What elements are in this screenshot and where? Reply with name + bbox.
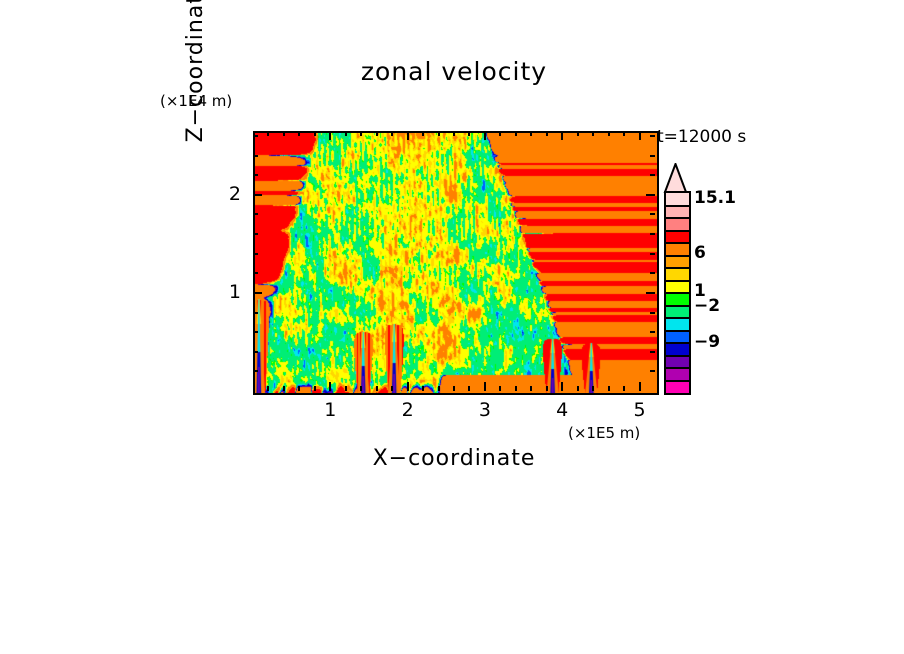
x-tick-minor-top (298, 131, 300, 136)
y-tick-minor (253, 135, 258, 137)
colorbar-separator (666, 255, 689, 257)
y-tick-minor (253, 174, 258, 176)
x-tick-minor-top (376, 131, 378, 136)
y-tick-minor-right (650, 174, 655, 176)
y-tick-minor-right (650, 351, 655, 353)
page-title: zonal velocity (253, 57, 655, 86)
x-tick-minor-top (267, 131, 269, 136)
x-tick-major-top (561, 131, 563, 140)
x-tick-minor-top (546, 131, 548, 136)
colorbar-tick-label: 6 (694, 243, 706, 263)
y-axis-title: Z−coordinate (183, 0, 209, 176)
x-tick-minor-top (438, 131, 440, 136)
x-tick-minor-top (515, 131, 517, 136)
plot-area (253, 131, 659, 395)
x-tick-minor (499, 386, 501, 391)
x-tick-minor-top (577, 131, 579, 136)
x-tick-label: 2 (393, 399, 423, 421)
colorbar-separator (666, 330, 689, 332)
x-tick-minor-top (360, 131, 362, 136)
y-tick-major-right (646, 194, 655, 196)
x-tick-label: 4 (547, 399, 577, 421)
x-tick-major (407, 382, 409, 391)
y-tick-minor (253, 370, 258, 372)
x-tick-minor (608, 386, 610, 391)
y-tick-minor (253, 272, 258, 274)
colorbar-tick-label: −2 (694, 296, 720, 316)
x-tick-label: 5 (625, 399, 655, 421)
y-tick-minor (253, 253, 258, 255)
colorbar-separator (666, 317, 689, 319)
x-tick-label: 1 (315, 399, 345, 421)
x-tick-minor-top (592, 131, 594, 136)
x-tick-minor-top (499, 131, 501, 136)
y-tick-minor (253, 331, 258, 333)
x-tick-minor (577, 386, 579, 391)
x-tick-minor-top (422, 131, 424, 136)
y-tick-label: 2 (211, 183, 241, 205)
x-tick-minor-top (608, 131, 610, 136)
x-tick-minor (592, 386, 594, 391)
x-tick-minor (515, 386, 517, 391)
x-axis-unit-label: (×1E5 m) (568, 424, 640, 442)
x-tick-minor (422, 386, 424, 391)
colorbar-tick-label: 15.1 (694, 188, 736, 208)
colorbar-separator (666, 342, 689, 344)
colorbar-separator (666, 380, 689, 382)
y-tick-major (253, 194, 262, 196)
x-tick-minor (623, 386, 625, 391)
y-tick-minor-right (650, 272, 655, 274)
colorbar (664, 191, 691, 395)
x-tick-major (639, 382, 641, 391)
colorbar-separator (666, 230, 689, 232)
y-tick-label: 1 (211, 281, 241, 303)
x-tick-minor (438, 386, 440, 391)
x-tick-major (561, 382, 563, 391)
y-tick-minor-right (650, 312, 655, 314)
x-tick-minor (283, 386, 285, 391)
x-tick-minor-top (391, 131, 393, 136)
velocity-field-heatmap (255, 133, 657, 393)
colorbar-separator (666, 305, 689, 307)
y-tick-minor (253, 213, 258, 215)
x-tick-minor (391, 386, 393, 391)
x-tick-minor-top (453, 131, 455, 136)
y-tick-minor-right (650, 135, 655, 137)
colorbar-separator (666, 367, 689, 369)
y-tick-minor (253, 233, 258, 235)
x-tick-minor-top (314, 131, 316, 136)
x-tick-major (329, 382, 331, 391)
x-tick-minor-top (530, 131, 532, 136)
colorbar-separator (666, 280, 689, 282)
x-tick-label: 3 (470, 399, 500, 421)
colorbar-separator (666, 242, 689, 244)
y-tick-major-right (646, 292, 655, 294)
x-tick-minor (298, 386, 300, 391)
x-tick-major-top (407, 131, 409, 140)
y-tick-minor (253, 155, 258, 157)
x-tick-minor (546, 386, 548, 391)
x-tick-major-top (639, 131, 641, 140)
x-tick-major (484, 382, 486, 391)
x-tick-minor (376, 386, 378, 391)
colorbar-arrow-icon (662, 163, 689, 193)
y-tick-minor-right (650, 213, 655, 215)
x-tick-minor (453, 386, 455, 391)
x-tick-major-top (329, 131, 331, 140)
colorbar-band (666, 381, 689, 394)
y-tick-minor-right (650, 331, 655, 333)
colorbar-separator (666, 267, 689, 269)
colorbar-separator (666, 217, 689, 219)
x-tick-minor-top (468, 131, 470, 136)
x-tick-minor (267, 386, 269, 391)
x-tick-minor-top (283, 131, 285, 136)
contour-plot-figure: zonal velocity (×1E4 m) (×1E5 m) X−coord… (0, 0, 904, 654)
time-annotation: t=12000 s (657, 127, 746, 147)
y-tick-minor-right (650, 253, 655, 255)
x-tick-minor (360, 386, 362, 391)
x-axis-title: X−coordinate (253, 446, 655, 471)
x-tick-minor-top (623, 131, 625, 136)
colorbar-separator (666, 205, 689, 207)
y-tick-minor-right (650, 233, 655, 235)
x-tick-minor (530, 386, 532, 391)
x-tick-minor-top (345, 131, 347, 136)
y-tick-minor (253, 351, 258, 353)
x-tick-minor (345, 386, 347, 391)
x-tick-minor (468, 386, 470, 391)
x-tick-major-top (484, 131, 486, 140)
x-tick-minor (314, 386, 316, 391)
colorbar-separator (666, 292, 689, 294)
colorbar-tick-label: −9 (694, 332, 720, 352)
colorbar-separator (666, 355, 689, 357)
y-tick-minor-right (650, 370, 655, 372)
y-tick-minor-right (650, 155, 655, 157)
y-tick-minor (253, 312, 258, 314)
y-tick-major (253, 292, 262, 294)
